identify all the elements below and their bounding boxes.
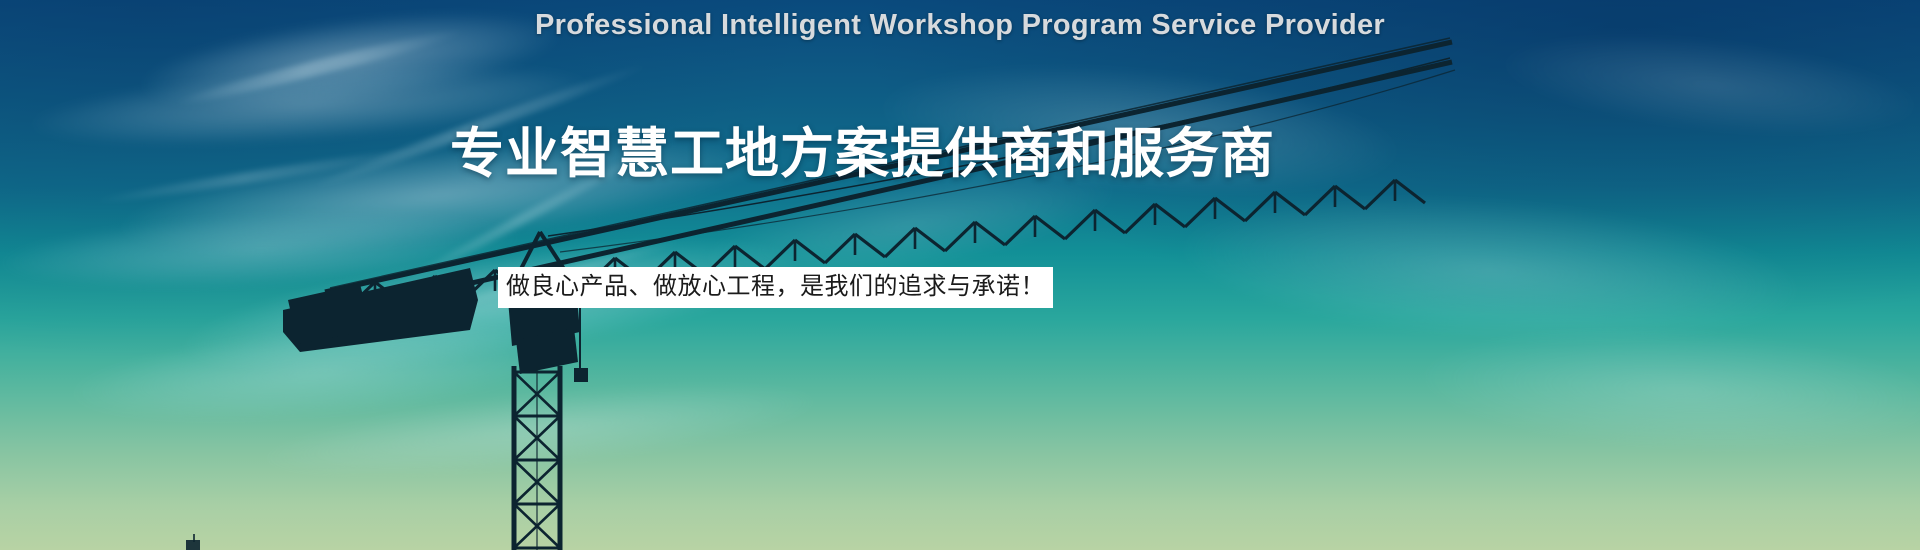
hero-banner: Professional Intelligent Workshop Progra… bbox=[0, 0, 1920, 550]
subtitle-slogan: 做良心产品、做放心工程，是我们的追求与承诺！ bbox=[498, 267, 1053, 308]
english-tagline: Professional Intelligent Workshop Progra… bbox=[0, 9, 1920, 42]
main-headline: 专业智慧工地方案提供商和服务商 bbox=[450, 126, 1275, 183]
